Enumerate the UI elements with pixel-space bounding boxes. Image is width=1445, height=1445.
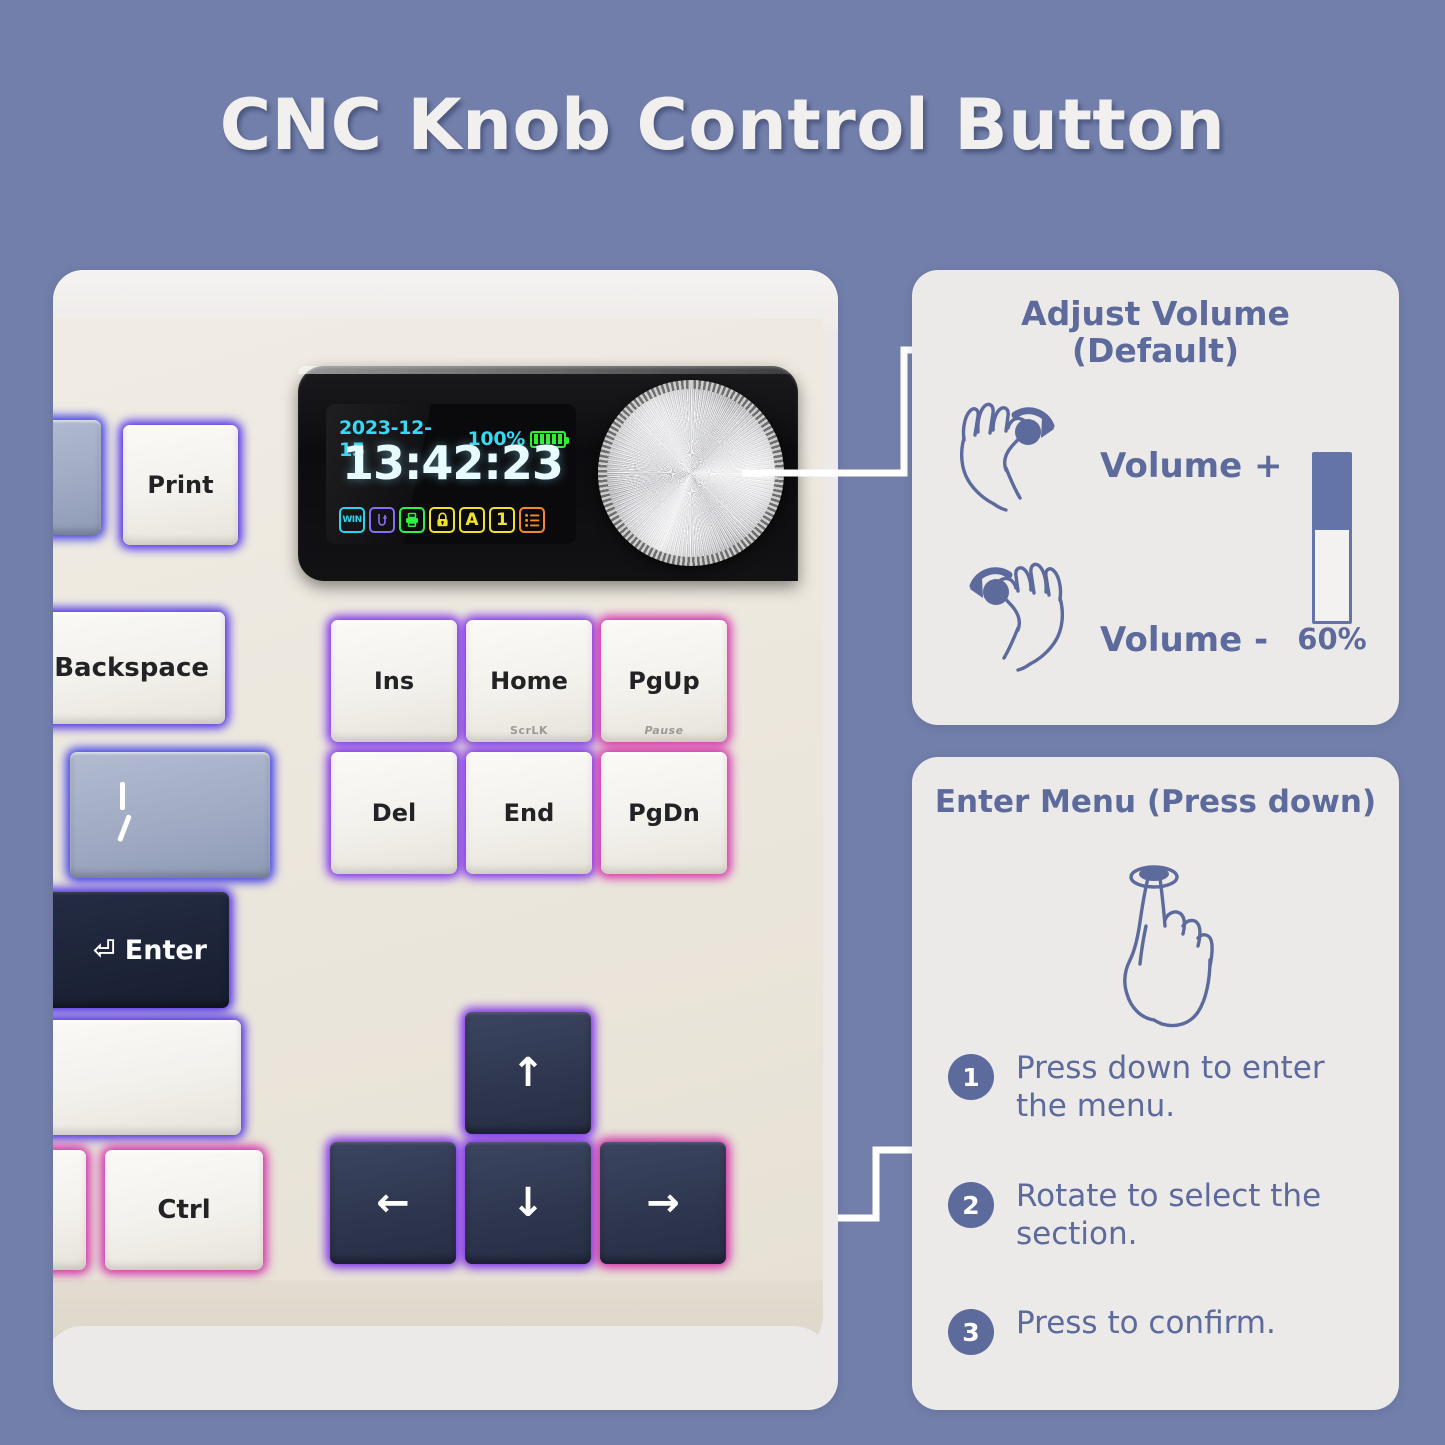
- menu-step-1-text: Press down to enter the menu.: [1016, 1050, 1378, 1126]
- key-home[interactable]: Home ScrLK: [466, 620, 592, 742]
- key-pgdn[interactable]: PgDn: [601, 752, 727, 874]
- key-end-label: End: [466, 752, 592, 874]
- key-arrow-right[interactable]: →: [600, 1142, 726, 1264]
- menu-step-1-number: 1: [948, 1054, 994, 1100]
- key-arrow-left[interactable]: ←: [330, 1142, 456, 1264]
- press-down-finger-icon: [1086, 860, 1226, 1040]
- key-f-group[interactable]: [53, 420, 101, 535]
- key-backslash[interactable]: [70, 752, 270, 878]
- key-backspace-label: ← Backspace: [53, 612, 225, 724]
- panel-volume-title: Adjust Volume (Default): [912, 296, 1399, 370]
- key-ctrl[interactable]: Ctrl: [105, 1150, 263, 1270]
- key-arrow-right-label: →: [600, 1142, 726, 1264]
- panel-volume-title-line1: Adjust Volume: [1021, 294, 1290, 333]
- key-pgdn-label: PgDn: [601, 752, 727, 874]
- key-home-sublegend: ScrLK: [466, 724, 592, 737]
- volume-up-label: Volume +: [1100, 446, 1282, 486]
- menu-step-3-text: Press to confirm.: [1016, 1305, 1276, 1343]
- key-enter-label: ⏎ Enter: [53, 892, 229, 1008]
- key-ins[interactable]: Ins: [331, 620, 457, 742]
- rotate-clockwise-hand-icon: [942, 388, 1082, 513]
- menu-step-2-number: 2: [948, 1182, 994, 1228]
- key-ctrl-label: Ctrl: [105, 1150, 263, 1270]
- menu-step-3-number: 3: [948, 1309, 994, 1355]
- key-ins-label: Ins: [331, 620, 457, 742]
- key-print[interactable]: Print: [123, 425, 238, 545]
- infographic-page: CNC Knob Control Button 2023-12-15 100%: [0, 0, 1445, 1445]
- volume-slider[interactable]: [1312, 452, 1352, 624]
- key-arrow-up[interactable]: ↑: [465, 1012, 591, 1134]
- key-backspace[interactable]: ← Backspace: [53, 612, 225, 724]
- key-end[interactable]: End: [466, 752, 592, 874]
- menu-step-3: 3 Press to confirm.: [948, 1305, 1378, 1355]
- key-del[interactable]: Del: [331, 752, 457, 874]
- key-del-label: Del: [331, 752, 457, 874]
- volume-percent-label: 60%: [1296, 622, 1368, 656]
- volume-down-label: Volume -: [1100, 620, 1268, 660]
- rotate-counter-clockwise-hand-icon: [942, 548, 1082, 673]
- key-arrow-down[interactable]: ↓: [465, 1142, 591, 1264]
- menu-step-2-text: Rotate to select the section.: [1016, 1178, 1378, 1254]
- volume-slider-fill: [1315, 455, 1349, 530]
- key-arrow-up-label: ↑: [465, 1012, 591, 1134]
- panel-menu-title: Enter Menu (Press down): [912, 785, 1399, 820]
- volume-down-row: Volume -: [942, 550, 1322, 670]
- menu-step-2: 2 Rotate to select the section.: [948, 1178, 1378, 1254]
- key-win[interactable]: [53, 1150, 86, 1270]
- key-print-label: Print: [123, 425, 238, 545]
- key-enter[interactable]: ⏎ Enter: [53, 892, 229, 1008]
- key-pgup[interactable]: PgUp Pause: [601, 620, 727, 742]
- key-pgup-sublegend: Pause: [601, 724, 727, 737]
- key-shift[interactable]: [53, 1020, 241, 1135]
- key-arrow-down-label: ↓: [465, 1142, 591, 1264]
- key-backslash-legend: [112, 780, 156, 842]
- menu-step-1: 1 Press down to enter the menu.: [948, 1050, 1378, 1126]
- panel-volume-title-line2: (Default): [1072, 331, 1239, 370]
- volume-up-row: Volume +: [942, 390, 1322, 510]
- key-arrow-left-label: ←: [330, 1142, 456, 1264]
